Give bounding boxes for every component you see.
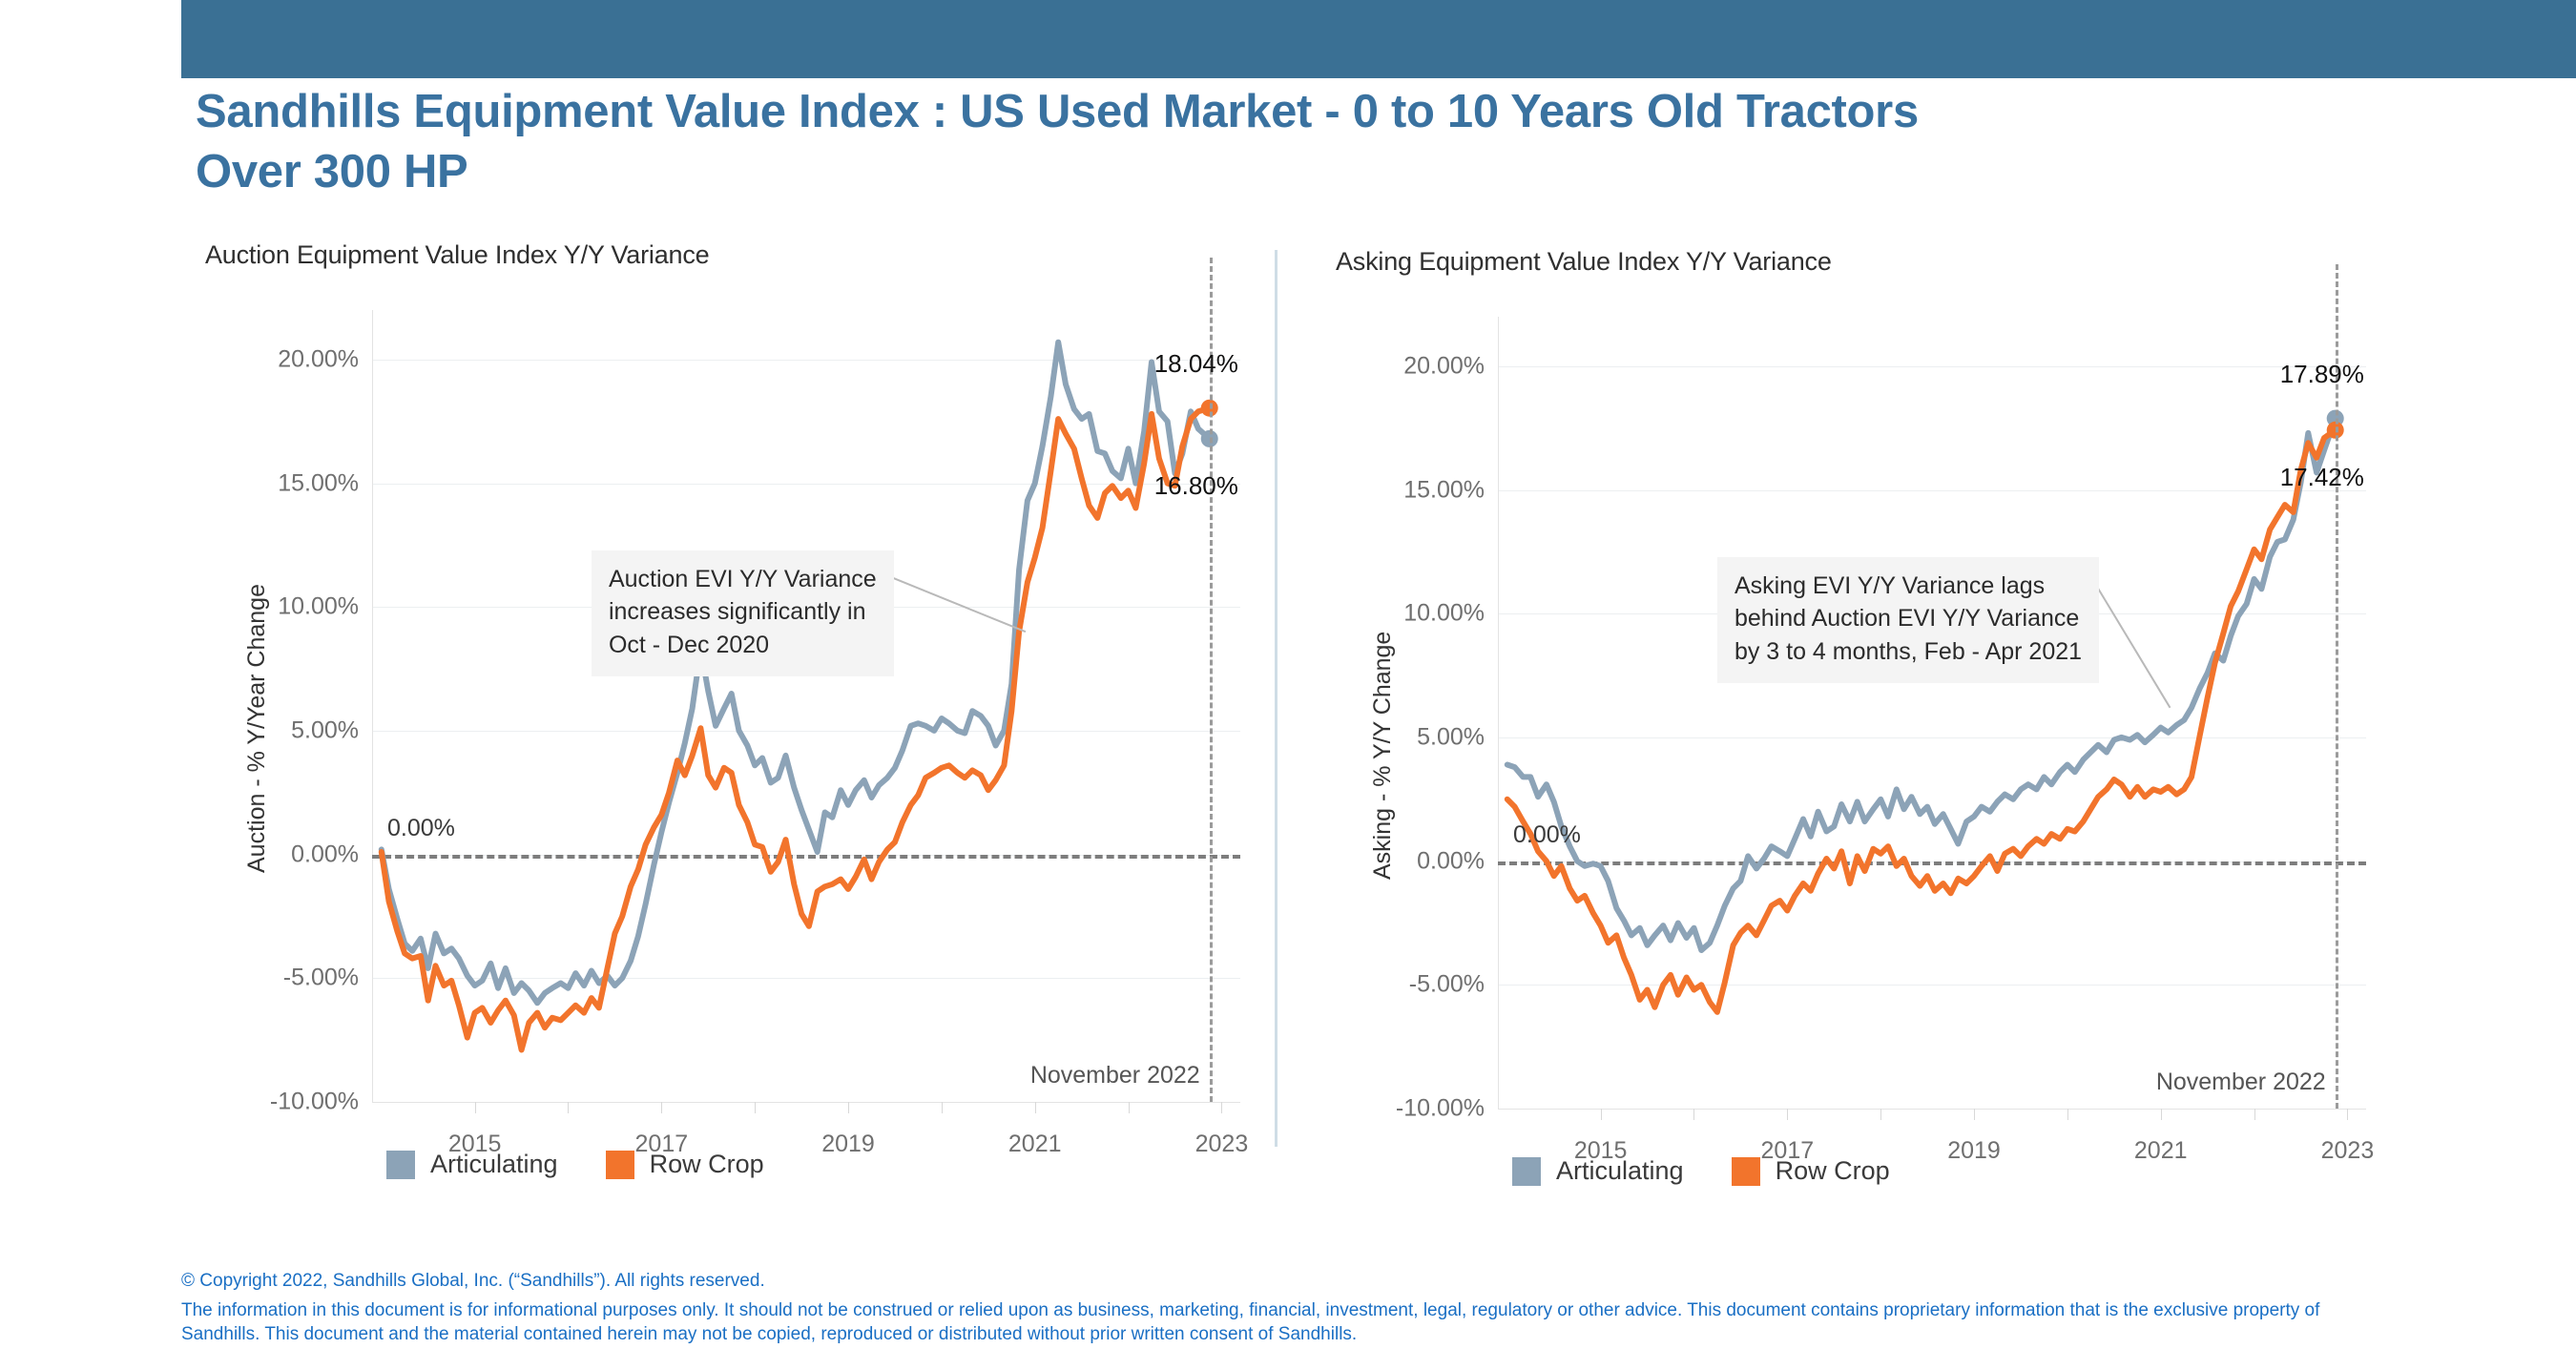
annotation-leader-line (372, 310, 1240, 1102)
y-axis-label: Auction - % Y/Year Change (243, 584, 271, 873)
x-axis-tick-mark (475, 1102, 476, 1113)
x-axis-line (372, 1102, 1240, 1103)
y-axis-tick-label: -5.00% (1409, 971, 1485, 999)
x-axis-tick-mark (1129, 1102, 1130, 1113)
y-axis-tick-label: 0.00% (1417, 847, 1485, 875)
x-axis-tick-mark (1693, 1109, 1694, 1120)
chart-panel-asking: Asking Equipment Value Index Y/Y Varianc… (1293, 229, 2390, 1231)
x-axis-line (1498, 1109, 2366, 1110)
y-axis-tick-label: 10.00% (278, 593, 359, 621)
plot-area-asking: Asking - % Y/Y Change20.00%15.00%10.00%5… (1498, 317, 2366, 1109)
footer-copyright: © Copyright 2022, Sandhills Global, Inc.… (181, 1269, 2395, 1293)
x-axis-tick-mark (2161, 1109, 2162, 1120)
x-axis-tick-label: 2019 (1947, 1137, 2001, 1165)
y-axis-tick-label: 10.00% (1403, 600, 1485, 628)
y-axis-tick-label: 0.00% (291, 841, 359, 868)
chart-panel-auction: Auction Equipment Value Index Y/Y Varian… (181, 229, 1278, 1231)
y-axis-tick-label: 5.00% (1417, 723, 1485, 751)
legend-label-row-crop: Row Crop (650, 1150, 764, 1179)
x-axis-tick-mark (1221, 1102, 1222, 1113)
x-axis-tick-mark (1974, 1109, 1975, 1120)
x-axis-tick-mark (661, 1102, 662, 1113)
y-axis-tick-label: 20.00% (1403, 352, 1485, 380)
chart-subtitle-asking: Asking Equipment Value Index Y/Y Varianc… (1336, 247, 1832, 277)
annotation-leader-line (1498, 317, 2366, 1109)
x-axis-tick-mark (942, 1102, 943, 1113)
y-axis-tick-label: 20.00% (278, 345, 359, 373)
y-axis-tick-label: 5.00% (291, 716, 359, 744)
x-axis-tick-label: 2021 (1008, 1131, 1062, 1158)
annotation-callout: Auction EVI Y/Y Variance increases signi… (592, 550, 894, 677)
x-axis-tick-mark (848, 1102, 849, 1113)
x-axis-tick-mark (568, 1102, 569, 1113)
y-axis-tick-label: 15.00% (1403, 476, 1485, 504)
legend-label-articulating: Articulating (1556, 1156, 1684, 1186)
legend-swatch-row-crop (1732, 1157, 1760, 1186)
x-axis-tick-label: 2019 (821, 1131, 875, 1158)
x-axis-tick-mark (1035, 1102, 1036, 1113)
x-axis-tick-label: 2023 (2321, 1137, 2375, 1165)
legend-swatch-row-crop (606, 1151, 634, 1179)
y-axis-label: Asking - % Y/Y Change (1369, 632, 1397, 880)
plot-area-auction: Auction - % Y/Year Change20.00%15.00%10.… (372, 310, 1240, 1102)
legend-item-row-crop[interactable]: Row Crop (606, 1150, 764, 1179)
x-axis-tick-mark (2067, 1109, 2068, 1120)
y-axis-tick-label: -5.00% (283, 965, 359, 992)
legend-swatch-articulating (1512, 1157, 1541, 1186)
legend-item-articulating[interactable]: Articulating (386, 1150, 558, 1179)
legend-item-row-crop[interactable]: Row Crop (1732, 1156, 1890, 1186)
legend-auction: Articulating Row Crop (386, 1150, 764, 1179)
legend-asking: Articulating Row Crop (1512, 1156, 1890, 1186)
y-axis-tick-label: -10.00% (270, 1089, 359, 1116)
x-axis-tick-mark (755, 1102, 756, 1113)
y-axis-tick-label: 15.00% (278, 469, 359, 497)
footer-disclaimer: The information in this document is for … (181, 1298, 2395, 1346)
x-axis-tick-label: 2023 (1195, 1131, 1249, 1158)
footer: © Copyright 2022, Sandhills Global, Inc.… (181, 1269, 2395, 1346)
x-axis-tick-mark (1880, 1109, 1881, 1120)
y-axis-tick-label: -10.00% (1396, 1095, 1485, 1123)
x-axis-tick-mark (1787, 1109, 1788, 1120)
annotation-callout: Asking EVI Y/Y Variance lags behind Auct… (1717, 557, 2099, 684)
x-axis-tick-mark (1601, 1109, 1602, 1120)
x-axis-tick-mark (2254, 1109, 2255, 1120)
page-title: Sandhills Equipment Value Index : US Use… (196, 82, 2008, 201)
legend-label-articulating: Articulating (430, 1150, 558, 1179)
header-bar (181, 0, 2576, 78)
chart-subtitle-auction: Auction Equipment Value Index Y/Y Varian… (205, 240, 709, 270)
legend-item-articulating[interactable]: Articulating (1512, 1156, 1684, 1186)
x-axis-tick-label: 2021 (2134, 1137, 2188, 1165)
legend-label-row-crop: Row Crop (1776, 1156, 1890, 1186)
legend-swatch-articulating (386, 1151, 415, 1179)
x-axis-tick-mark (2347, 1109, 2348, 1120)
